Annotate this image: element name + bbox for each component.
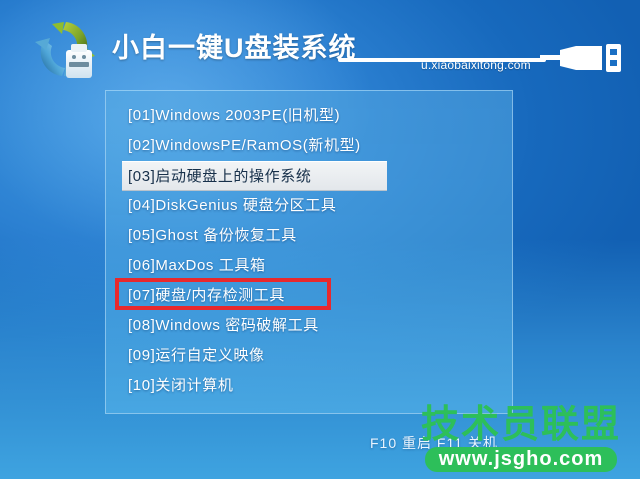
usb-recycle-logo-icon (22, 14, 108, 84)
page-title: 小白一键U盘装系统 (112, 26, 357, 65)
boot-menu-list: [01]Windows 2003PE(旧机型) [02]WindowsPE/Ra… (106, 101, 512, 401)
menu-item-06[interactable]: [06]MaxDos 工具箱 (122, 251, 512, 281)
boot-menu-panel: [01]Windows 2003PE(旧机型) [02]WindowsPE/Ra… (105, 90, 513, 414)
menu-item-02[interactable]: [02]WindowsPE/RamOS(新机型) (122, 131, 512, 161)
header: 小白一键U盘装系统 u.xiaobaixitong.com (0, 0, 640, 88)
menu-item-05[interactable]: [05]Ghost 备份恢复工具 (122, 221, 512, 251)
footer-key-hint: F10 重启 F11 关机 (370, 433, 498, 453)
usb-plug-icon (540, 40, 632, 76)
site-url-label: u.xiaobaixitong.com (421, 58, 531, 72)
menu-item-03[interactable]: [03]启动硬盘上的操作系统 (122, 161, 387, 191)
menu-item-09[interactable]: [09]运行自定义映像 (122, 341, 512, 371)
menu-item-07[interactable]: [07]硬盘/内存检测工具 (122, 281, 512, 311)
menu-item-08[interactable]: [08]Windows 密码破解工具 (122, 311, 512, 341)
menu-item-04[interactable]: [04]DiskGenius 硬盘分区工具 (122, 191, 512, 221)
boot-menu-screen: 小白一键U盘装系统 u.xiaobaixitong.com [01]Window… (0, 0, 640, 479)
menu-item-10[interactable]: [10]关闭计算机 (122, 371, 512, 401)
menu-item-01[interactable]: [01]Windows 2003PE(旧机型) (122, 101, 512, 131)
